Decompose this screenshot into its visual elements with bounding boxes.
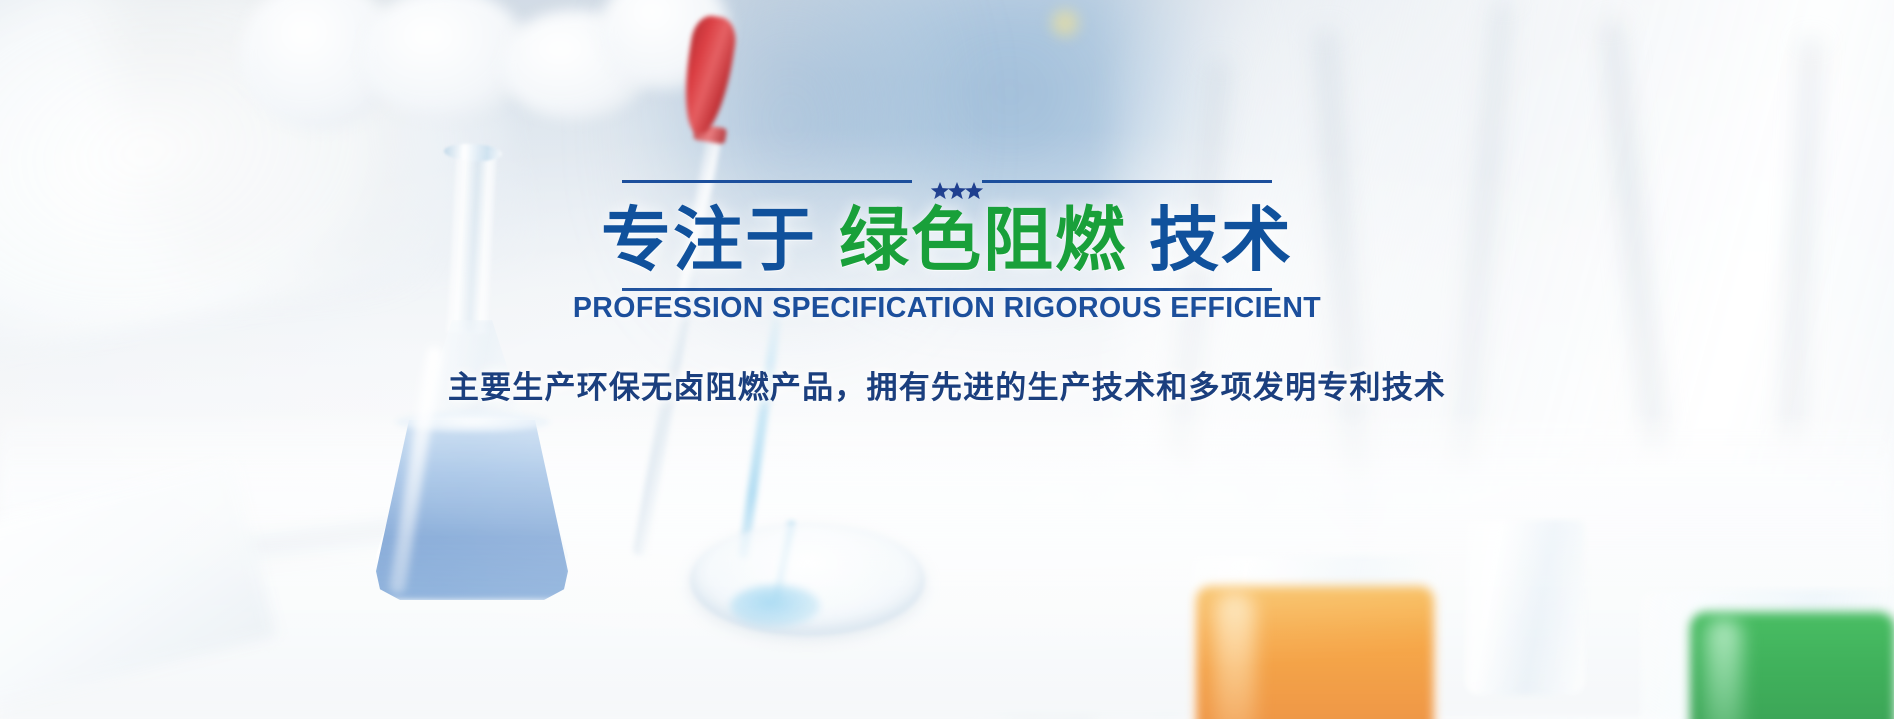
tagline: 主要生产环保无卤阻燃产品，拥有先进的生产技术和多项发明专利技术 <box>448 362 1446 407</box>
hero-banner: 专注于绿色阻燃技术 PROFESSION SPECIFICATION RIGOR… <box>0 0 1894 719</box>
banner-content: 专注于绿色阻燃技术 PROFESSION SPECIFICATION RIGOR… <box>0 0 1894 719</box>
headline-part-1: 专注于 <box>601 199 817 281</box>
decorative-rule-with-stars <box>622 180 1272 183</box>
headline-part-2: 绿色阻燃 <box>839 199 1127 281</box>
subtitle-english: PROFESSION SPECIFICATION RIGOROUS EFFICI… <box>573 292 1321 325</box>
page-title: 专注于绿色阻燃技术 <box>601 196 1293 286</box>
decorative-rule-bottom <box>622 288 1272 291</box>
rule-segment-left <box>622 180 912 183</box>
rule-segment-right <box>982 180 1272 183</box>
headline-part-3: 技术 <box>1149 199 1293 281</box>
